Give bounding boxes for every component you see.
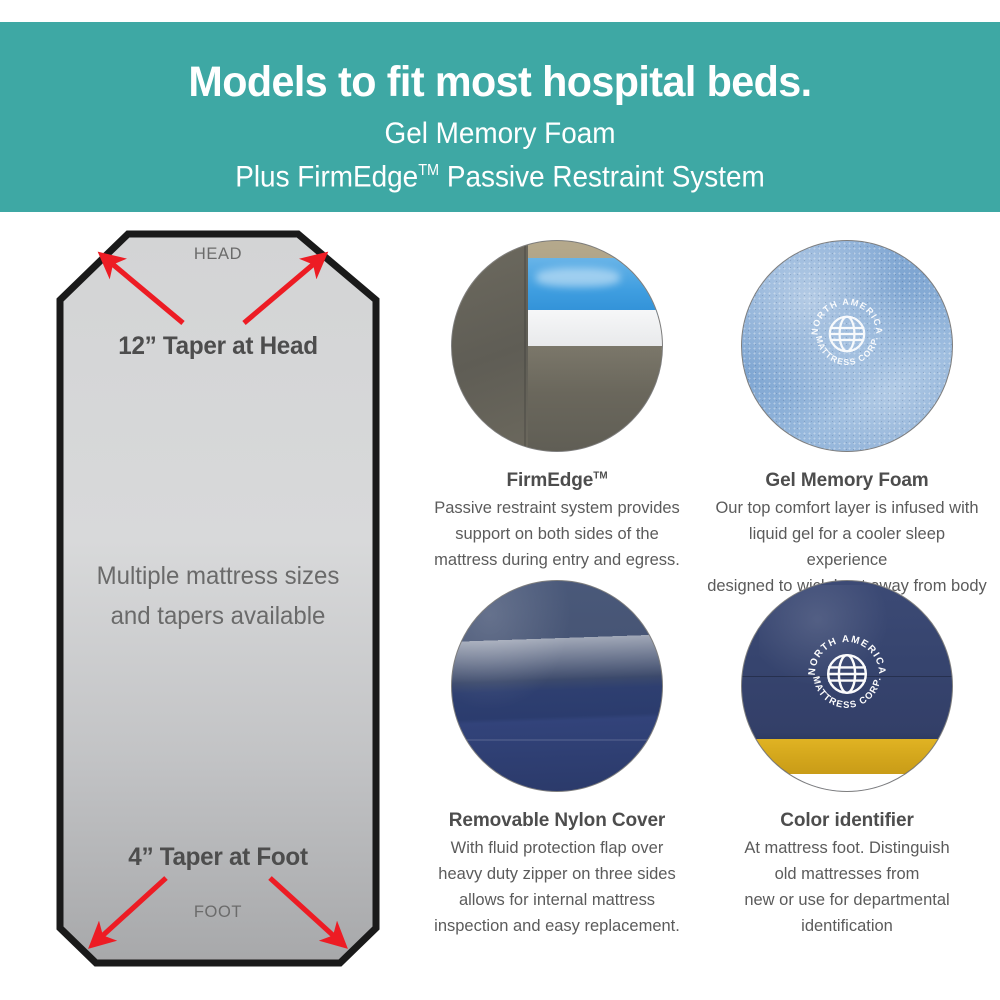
feature-description-line: old mattresses from: [706, 861, 987, 887]
feature-item-color-identifier: NORTH AMERICA MATTRESS CORP. Color ident…: [702, 580, 992, 939]
gel-memory-foam-photo: NORTH AMERICA MATTRESS CORP.: [741, 240, 953, 452]
feature-description-line: new or use for departmental: [706, 887, 987, 913]
mattress-shape-diagram: HEAD 12” Taper at Head Multiple mattress…: [48, 228, 388, 973]
feature-description-color-identifier: At mattress foot. Distinguish old mattre…: [706, 835, 987, 939]
feature-item-firmedge: FirmEdgeTM Passive restraint system prov…: [412, 240, 702, 573]
head-taper-callout: 12” Taper at Head: [53, 332, 383, 361]
foot-label: FOOT: [48, 903, 388, 922]
header-subtitle-line-1: Gel Memory Foam: [35, 106, 965, 152]
feature-description-line: Our top comfort layer is infused with: [706, 495, 987, 521]
feature-title-color-identifier: Color identifier: [702, 810, 992, 832]
mattress-center-text-line-2: and tapers available: [55, 596, 381, 636]
feature-description-removable-nylon-cover: With fluid protection flap over heavy du…: [416, 835, 697, 939]
header-subtitle-line-2: Plus FirmEdgeTM Passive Restraint System: [35, 152, 965, 196]
feature-item-removable-nylon-cover: Removable Nylon Cover With fluid protect…: [412, 580, 702, 939]
feature-description-line: liquid gel for a cooler sleep experience: [706, 521, 987, 573]
feature-title-removable-nylon-cover: Removable Nylon Cover: [412, 810, 702, 832]
head-label: HEAD: [48, 245, 388, 264]
feature-title-gel-memory-foam: Gel Memory Foam: [702, 470, 992, 492]
feature-description-firmedge: Passive restraint system provides suppor…: [416, 495, 697, 573]
feature-description-line: inspection and easy replacement.: [416, 913, 697, 939]
trademark-symbol: TM: [418, 162, 439, 179]
header-banner: Models to fit most hospital beds. Gel Me…: [0, 22, 1000, 212]
feature-description-line: mattress during entry and egress.: [416, 547, 697, 573]
feature-description-line: support on both sides of the: [416, 521, 697, 547]
feature-description-line: allows for internal mattress: [416, 887, 697, 913]
gold-color-band: [742, 739, 952, 775]
feature-description-line: heavy duty zipper on three sides: [416, 861, 697, 887]
firmedge-foam-cross-section-photo: [451, 240, 663, 452]
feature-description-line: At mattress foot. Distinguish: [706, 835, 987, 861]
feature-description-line: Passive restraint system provides: [416, 495, 697, 521]
header-subtitle-line-2-before-tm: Plus FirmEdge: [235, 161, 418, 194]
removable-nylon-cover-photo: [451, 580, 663, 792]
color-identifier-photo: NORTH AMERICA MATTRESS CORP.: [741, 580, 953, 792]
page-title: Models to fit most hospital beds.: [20, 22, 980, 106]
feature-title-firmedge-text: FirmEdge: [506, 470, 593, 491]
header-subtitle-line-2-after-tm: Passive Restraint System: [439, 161, 765, 194]
feature-grid: FirmEdgeTM Passive restraint system prov…: [412, 240, 992, 960]
foam-texture: [742, 241, 952, 451]
feature-item-gel-memory-foam: NORTH AMERICA MATTRESS CORP. Gel Memory …: [702, 240, 992, 599]
feature-description-line: With fluid protection flap over: [416, 835, 697, 861]
mattress-center-text-line-1: Multiple mattress sizes: [55, 556, 381, 596]
feature-description-line: identification: [706, 913, 987, 939]
mattress-center-text: Multiple mattress sizes and tapers avail…: [55, 556, 381, 636]
foot-taper-callout: 4” Taper at Foot: [53, 843, 383, 872]
feature-title-firmedge: FirmEdgeTM: [412, 470, 702, 492]
trademark-symbol: TM: [593, 471, 607, 482]
